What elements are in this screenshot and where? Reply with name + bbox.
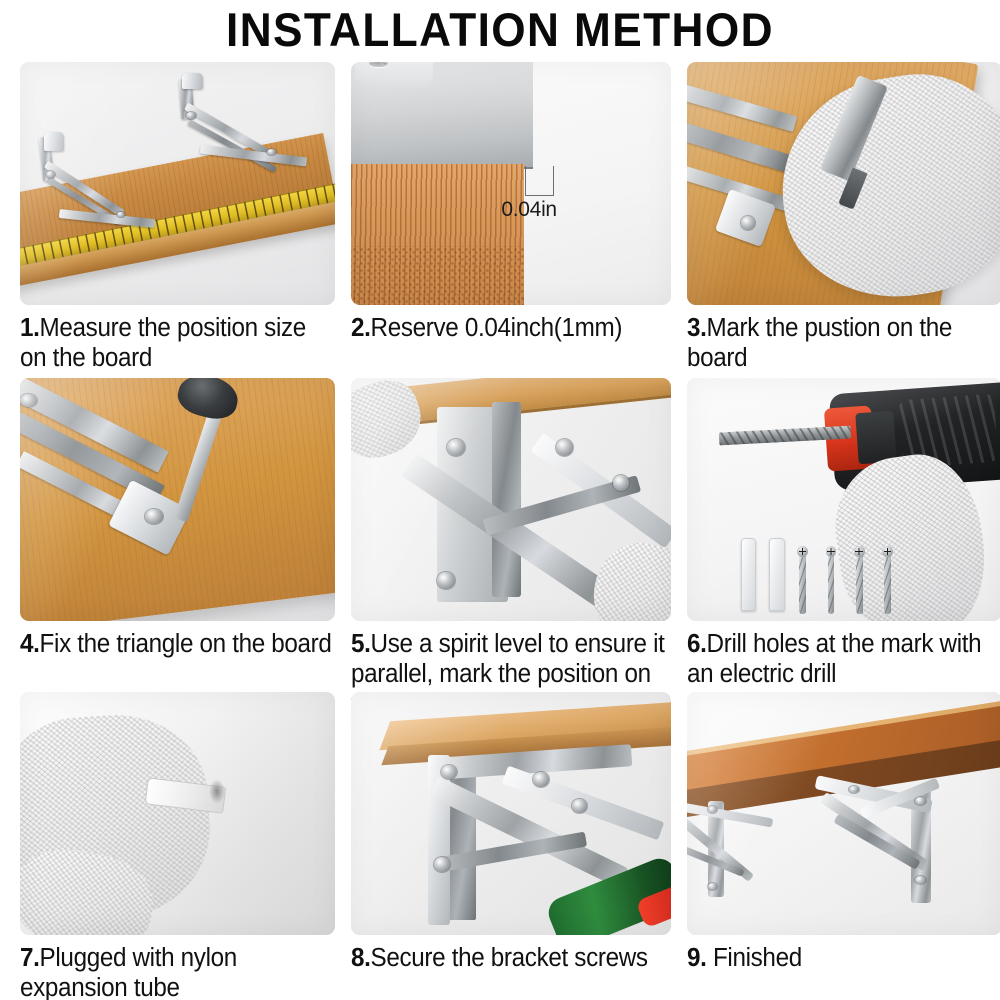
step-4-caption: 4.Fix the triangle on the board (20, 629, 334, 659)
step-1-text: Measure the position size on the board (20, 314, 306, 372)
screw (797, 546, 808, 614)
step-7-number: 7. (20, 944, 40, 972)
steps-grid: 1.Measure the position size on the board (20, 62, 988, 1000)
photo-measure-position (20, 62, 335, 305)
photo-drill-holes (687, 378, 1000, 621)
step-6-text: Drill holes at the mark with an electric… (687, 630, 981, 688)
step-8: 8.Secure the bracket screws (351, 692, 671, 1000)
step-3-text: Mark the pustion on the board (687, 314, 952, 372)
step-9-text: Finished (707, 944, 802, 972)
step-4-number: 4. (20, 630, 40, 658)
photo-secure-screws (351, 692, 671, 935)
step-3-caption: 3.Mark the pustion on the board (687, 313, 1000, 373)
photo-mark-position (687, 62, 1000, 305)
screw (882, 546, 893, 614)
step-6: 6.Drill holes at the mark with an electr… (687, 378, 1000, 692)
step-8-caption: 8.Secure the bracket screws (351, 943, 670, 973)
wall-hole-shadow (209, 779, 225, 803)
step-7-caption: 7.Plugged with nylon expansion tube (20, 943, 334, 1000)
screw (854, 546, 865, 614)
photo-reserve-gap: 0.04in (351, 62, 671, 305)
bracket-left (39, 130, 165, 247)
step-6-caption: 6.Drill holes at the mark with an electr… (687, 629, 1000, 689)
step-7: 7.Plugged with nylon expansion tube (20, 692, 335, 1000)
step-6-number: 6. (687, 630, 707, 658)
step-3-number: 3. (687, 314, 707, 342)
photo-nylon-plug (20, 692, 335, 935)
step-1-number: 1. (20, 314, 40, 342)
step-4: 4.Fix the triangle on the board (20, 378, 335, 692)
gap-measure-bracket (525, 166, 554, 195)
nylon-anchor (741, 538, 757, 611)
nylon-anchor (769, 538, 785, 611)
step-9-caption: 9. Finished (687, 943, 1000, 973)
gap-annotation-label: 0.04in (501, 198, 556, 222)
step-9-number: 9. (687, 944, 707, 972)
photo-finished (687, 692, 1000, 935)
step-2-text: Reserve 0.04inch(1mm) (371, 314, 623, 342)
step-2-number: 2. (351, 314, 371, 342)
screw (826, 546, 837, 614)
step-2: 0.04in 2.Reserve 0.04inch(1mm) (351, 62, 671, 378)
bracket-right (174, 77, 319, 194)
bracket-right (813, 772, 977, 908)
bracket-left (687, 799, 800, 916)
step-8-text: Secure the bracket screws (371, 944, 648, 972)
step-7-text: Plugged with nylon expansion tube (20, 944, 237, 1000)
step-1: 1.Measure the position size on the board (20, 62, 335, 378)
step-9: 9. Finished (687, 692, 1000, 1000)
step-5: 5.Use a spirit level to ensure it parall… (351, 378, 671, 692)
step-1-caption: 1.Measure the position size on the board (20, 313, 334, 373)
bamboo-end-grain (351, 164, 524, 305)
step-3: 3.Mark the pustion on the board (687, 62, 1000, 378)
photo-spirit-level (351, 378, 671, 621)
step-8-number: 8. (351, 944, 371, 972)
step-2-caption: 2.Reserve 0.04inch(1mm) (351, 313, 670, 343)
installation-method-infographic: INSTALLATION METHOD (0, 0, 1000, 1000)
bracket-hole (369, 62, 388, 67)
step-4-text: Fix the triangle on the board (40, 630, 332, 658)
step-5-number: 5. (351, 630, 371, 658)
bracket-back-slot (492, 402, 521, 596)
drill-chuck (855, 411, 896, 465)
photo-fix-triangle (20, 378, 335, 621)
bracket-metal-edge (351, 62, 533, 169)
page-title: INSTALLATION METHOD (30, 2, 970, 57)
